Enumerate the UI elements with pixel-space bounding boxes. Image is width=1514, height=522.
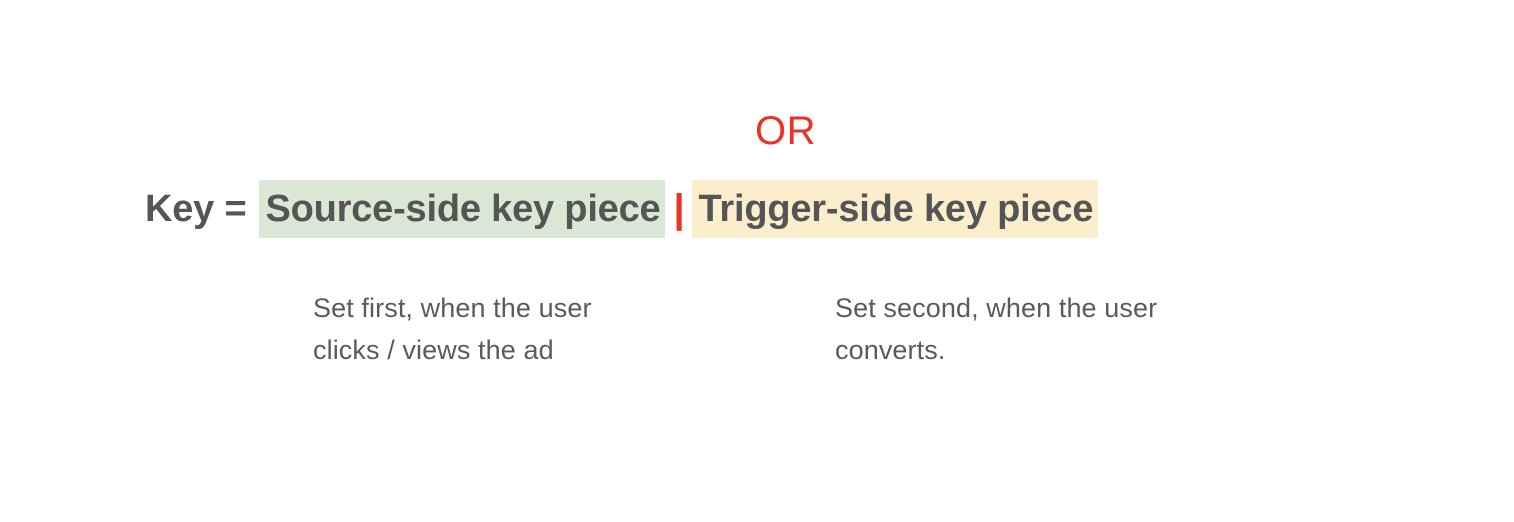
- trigger-caption-line-2: converts.: [835, 329, 1305, 371]
- source-side-key-piece: Source-side key piece: [259, 180, 665, 238]
- key-structure-diagram: OR Key = Source-side key piece | Trigger…: [0, 0, 1514, 522]
- key-prefix-label: Key =: [145, 180, 259, 238]
- trigger-side-caption: Set second, when the user converts.: [835, 287, 1305, 371]
- source-caption-line-2: clicks / views the ad: [313, 329, 713, 371]
- source-side-caption: Set first, when the user clicks / views …: [313, 287, 713, 371]
- key-formula-line: Key = Source-side key piece | Trigger-si…: [145, 180, 1098, 238]
- trigger-caption-line-1: Set second, when the user: [835, 287, 1305, 329]
- or-label: OR: [755, 108, 816, 154]
- trigger-side-key-piece: Trigger-side key piece: [692, 180, 1098, 238]
- source-caption-line-1: Set first, when the user: [313, 287, 713, 329]
- key-separator-pipe: |: [665, 180, 692, 238]
